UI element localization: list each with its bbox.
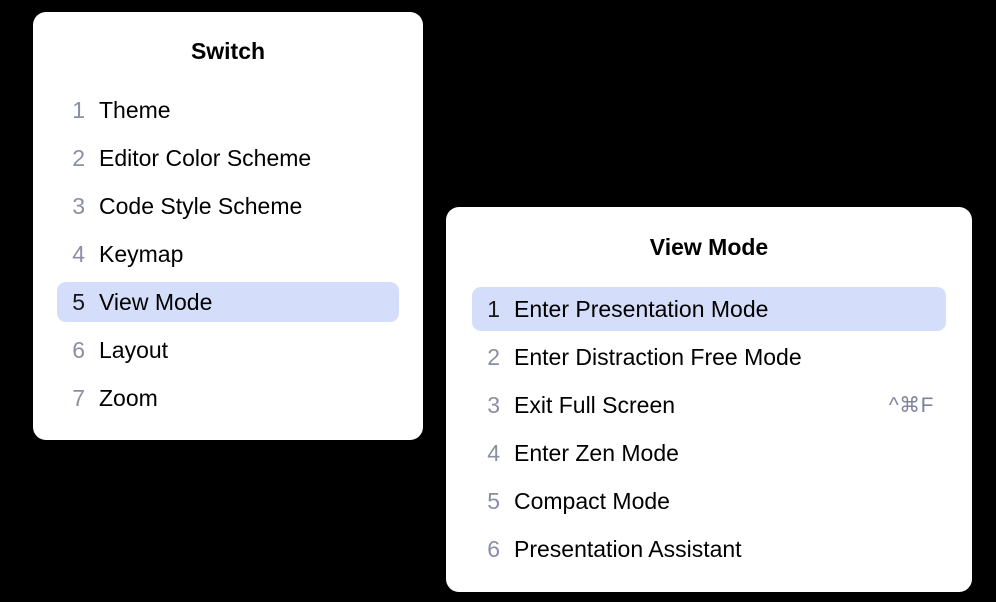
menu-item-index: 6 <box>484 536 500 563</box>
menu-item-zoom[interactable]: 7Zoom <box>57 378 399 418</box>
menu-item-label: Exit Full Screen <box>514 392 889 419</box>
menu-item-enter-distraction-free-mode[interactable]: 2Enter Distraction Free Mode <box>472 335 946 379</box>
menu-item-label: Enter Distraction Free Mode <box>514 344 946 371</box>
view-mode-popup: View Mode 1Enter Presentation Mode2Enter… <box>446 207 972 592</box>
menu-item-label: Presentation Assistant <box>514 536 946 563</box>
menu-item-label: Enter Presentation Mode <box>514 296 946 323</box>
menu-item-index: 3 <box>484 392 500 419</box>
menu-item-index: 4 <box>484 440 500 467</box>
menu-item-label: Theme <box>99 97 399 124</box>
menu-item-layout[interactable]: 6Layout <box>57 330 399 370</box>
menu-item-label: Editor Color Scheme <box>99 145 399 172</box>
menu-item-index: 1 <box>69 97 85 124</box>
menu-item-index: 6 <box>69 337 85 364</box>
menu-item-label: Layout <box>99 337 399 364</box>
menu-item-view-mode[interactable]: 5View Mode <box>57 282 399 322</box>
menu-item-theme[interactable]: 1Theme <box>57 90 399 130</box>
menu-item-index: 5 <box>69 289 85 316</box>
view-mode-menu-list: 1Enter Presentation Mode2Enter Distracti… <box>446 287 972 571</box>
switch-menu-list: 1Theme2Editor Color Scheme3Code Style Sc… <box>33 90 423 418</box>
menu-item-label: Code Style Scheme <box>99 193 399 220</box>
menu-item-index: 4 <box>69 241 85 268</box>
menu-item-index: 3 <box>69 193 85 220</box>
menu-item-index: 5 <box>484 488 500 515</box>
menu-item-index: 1 <box>484 296 500 323</box>
menu-item-label: View Mode <box>99 289 399 316</box>
menu-item-presentation-assistant[interactable]: 6Presentation Assistant <box>472 527 946 571</box>
screen-background: Switch 1Theme2Editor Color Scheme3Code S… <box>0 0 996 602</box>
menu-item-index: 7 <box>69 385 85 412</box>
menu-item-shortcut: ^⌘F <box>889 393 946 418</box>
menu-item-editor-color-scheme[interactable]: 2Editor Color Scheme <box>57 138 399 178</box>
menu-item-index: 2 <box>69 145 85 172</box>
menu-item-exit-full-screen[interactable]: 3Exit Full Screen^⌘F <box>472 383 946 427</box>
menu-item-label: Compact Mode <box>514 488 946 515</box>
menu-item-enter-zen-mode[interactable]: 4Enter Zen Mode <box>472 431 946 475</box>
view-mode-popup-title: View Mode <box>446 234 972 261</box>
menu-item-enter-presentation-mode[interactable]: 1Enter Presentation Mode <box>472 287 946 331</box>
menu-item-code-style-scheme[interactable]: 3Code Style Scheme <box>57 186 399 226</box>
menu-item-keymap[interactable]: 4Keymap <box>57 234 399 274</box>
menu-item-label: Enter Zen Mode <box>514 440 946 467</box>
menu-item-compact-mode[interactable]: 5Compact Mode <box>472 479 946 523</box>
menu-item-label: Zoom <box>99 385 399 412</box>
switch-popup: Switch 1Theme2Editor Color Scheme3Code S… <box>33 12 423 440</box>
switch-popup-title: Switch <box>33 38 423 65</box>
menu-item-index: 2 <box>484 344 500 371</box>
menu-item-label: Keymap <box>99 241 399 268</box>
